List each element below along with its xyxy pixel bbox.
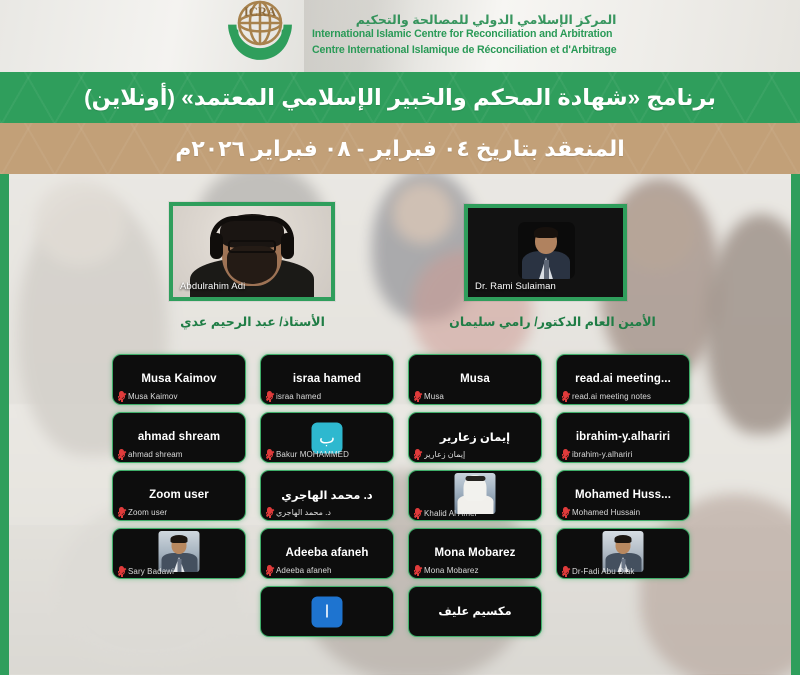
org-name-arabic: المركز الإسلامي الدولي للمصالحة والتحكيم	[312, 12, 616, 27]
participant-display-name: read.ai meeting...	[557, 373, 689, 385]
grid-spacer	[112, 586, 246, 637]
mic-muted-icon	[414, 508, 421, 519]
participant-footer-name: ibrahim-y.alhariri	[572, 450, 632, 459]
participant-footer-name: Dr-Fadi Abu Diak	[572, 567, 635, 576]
zoom-meeting-poster: ICRA المركز الإسلامي الدولي للمصالحة وال…	[0, 0, 800, 675]
org-name-french: Centre International Islamique de Réconc…	[312, 43, 616, 58]
participant-name-bar: israa hamed	[266, 391, 321, 402]
participant-display-name: ahmad shream	[113, 431, 245, 443]
participant-tile[interactable]: ibrahim-y.alhaririibrahim-y.alhariri	[556, 412, 690, 463]
program-dates: المنعقد بتاريخ ٠٤ فبراير - ٠٨ فبراير ٢٠٢…	[175, 136, 625, 162]
participant-tile[interactable]: Zoom userZoom user	[112, 470, 246, 521]
participant-display-name: د. محمد الهاجري	[261, 487, 393, 501]
participant-display-name: إيمان زعارير	[409, 429, 541, 443]
participant-footer-name: Mohamed Hussain	[572, 508, 640, 517]
participant-name-bar: Mona Mobarez	[414, 565, 479, 576]
program-title: برنامج «شهادة المحكم والخبير الإسلامي ال…	[84, 85, 716, 111]
participant-footer-name: Mona Mobarez	[424, 566, 479, 575]
logo-band: ICRA المركز الإسلامي الدولي للمصالحة وال…	[0, 0, 800, 72]
mic-muted-icon	[118, 566, 125, 577]
mic-muted-icon	[414, 565, 421, 576]
participant-name-bar: Zoom user	[118, 507, 167, 518]
frame-edge-right	[791, 174, 800, 675]
participant-tile[interactable]: بBakur MOHAMMED	[260, 412, 394, 463]
participant-name-bar: إيمان زعارير	[414, 449, 465, 460]
mic-muted-icon	[562, 391, 569, 402]
organization-name-block: المركز الإسلامي الدولي للمصالحة والتحكيم…	[312, 0, 616, 58]
icra-globe-logo-icon: ICRA	[218, 0, 302, 70]
participant-tile[interactable]: مكسيم عليف	[408, 586, 542, 637]
participant-footer-name: Musa Kaimov	[128, 392, 178, 401]
participant-tile[interactable]: د. محمد الهاجريد. محمد الهاجري	[260, 470, 394, 521]
participant-avatar-initial: ا	[312, 596, 343, 627]
mic-muted-icon	[266, 565, 273, 576]
participant-display-name: Mohamed Huss...	[557, 489, 689, 501]
participant-name-bar: Sary Badawi	[118, 566, 174, 577]
participant-display-name: israa hamed	[261, 373, 393, 385]
participant-display-name: ibrahim-y.alhariri	[557, 431, 689, 443]
participant-footer-name: Musa	[424, 392, 444, 401]
participant-name-bar: د. محمد الهاجري	[266, 507, 331, 518]
participant-tile[interactable]: Sary Badawi	[112, 528, 246, 579]
participant-name-bar: read.ai meeting notes	[562, 391, 651, 402]
participant-footer-name: read.ai meeting notes	[572, 392, 651, 401]
speaker-caption-arabic-main: الأستاذ/ عبد الرحيم عدي	[130, 314, 375, 329]
participant-tile[interactable]: Dr-Fadi Abu Diak	[556, 528, 690, 579]
frame-edge-left	[0, 174, 9, 675]
mic-muted-icon	[414, 449, 421, 460]
participant-tile[interactable]: Khalid Al Amer	[408, 470, 542, 521]
participant-name-bar: Adeeba afaneh	[266, 565, 332, 576]
participant-footer-name: Zoom user	[128, 508, 167, 517]
participant-tile[interactable]: ا	[260, 586, 394, 637]
participant-display-name: Adeeba afaneh	[261, 547, 393, 559]
organization-logo-lockup: ICRA المركز الإسلامي الدولي للمصالحة وال…	[218, 0, 616, 70]
mic-muted-icon	[118, 449, 125, 460]
participant-footer-name: Adeeba afaneh	[276, 566, 332, 575]
participant-tile[interactable]: Adeeba afanehAdeeba afaneh	[260, 528, 394, 579]
participant-footer-name: د. محمد الهاجري	[276, 508, 331, 517]
participant-tile[interactable]: إيمان زعاريرإيمان زعارير	[408, 412, 542, 463]
participant-footer-name: إيمان زعارير	[424, 450, 465, 459]
participant-display-name: مكسيم عليف	[409, 603, 541, 617]
participant-tile[interactable]: ahmad shreamahmad shream	[112, 412, 246, 463]
participant-name-bar: Mohamed Hussain	[562, 507, 640, 518]
mic-muted-icon	[266, 449, 273, 460]
participant-name-bar: ahmad shream	[118, 449, 183, 460]
participant-footer-name: israa hamed	[276, 392, 321, 401]
speaker-tile-dr-rami-sulaiman[interactable]: Dr. Rami Sulaiman	[464, 204, 627, 301]
participant-name-bar: ibrahim-y.alhariri	[562, 449, 632, 460]
speaker-caption-arabic-secondary: الأمين العام الدكتور/ رامي سليمان	[430, 314, 675, 329]
participant-display-name: Musa	[409, 373, 541, 385]
grid-spacer	[556, 586, 690, 637]
participant-tile[interactable]: israa hamedisraa hamed	[260, 354, 394, 405]
participant-tile[interactable]: Musa KaimovMusa Kaimov	[112, 354, 246, 405]
speaker-name-overlay: Dr. Rami Sulaiman	[475, 281, 556, 292]
speaker-tile-abdulrahim-adi[interactable]: Abdulrahim Adi	[169, 202, 335, 301]
participant-grid: Musa KaimovMusa Kaimovisraa hamedisraa h…	[112, 354, 690, 637]
mic-muted-icon	[414, 391, 421, 402]
participant-name-bar: Khalid Al Amer	[414, 508, 477, 519]
meeting-stage: Abdulrahim Adi Dr. Rami Sulaiman الأستاذ…	[0, 174, 800, 675]
mic-muted-icon	[118, 507, 125, 518]
participant-name-bar: Musa Kaimov	[118, 391, 178, 402]
participant-footer-name: Sary Badawi	[128, 567, 174, 576]
program-title-banner: برنامج «شهادة المحكم والخبير الإسلامي ال…	[0, 72, 800, 123]
mic-muted-icon	[266, 507, 273, 518]
mic-muted-icon	[266, 391, 273, 402]
svg-text:ICRA: ICRA	[244, 5, 276, 19]
participant-name-bar: Musa	[414, 391, 444, 402]
program-date-banner: المنعقد بتاريخ ٠٤ فبراير - ٠٨ فبراير ٢٠٢…	[0, 123, 800, 174]
participant-display-name: Musa Kaimov	[113, 373, 245, 385]
participant-name-bar: Dr-Fadi Abu Diak	[562, 566, 635, 577]
participant-display-name: Mona Mobarez	[409, 547, 541, 559]
participant-tile[interactable]: MusaMusa	[408, 354, 542, 405]
mic-muted-icon	[118, 391, 125, 402]
participant-footer-name: Bakur MOHAMMED	[276, 450, 349, 459]
mic-muted-icon	[562, 449, 569, 460]
speaker-name-overlay: Abdulrahim Adi	[180, 281, 245, 292]
participant-tile[interactable]: Mohamed Huss...Mohamed Hussain	[556, 470, 690, 521]
mic-muted-icon	[562, 507, 569, 518]
org-name-english: International Islamic Centre for Reconci…	[312, 27, 616, 42]
participant-name-bar: Bakur MOHAMMED	[266, 449, 349, 460]
participant-footer-name: ahmad shream	[128, 450, 183, 459]
participant-tile[interactable]: Mona MobarezMona Mobarez	[408, 528, 542, 579]
mic-muted-icon	[562, 566, 569, 577]
participant-footer-name: Khalid Al Amer	[424, 509, 477, 518]
participant-tile[interactable]: read.ai meeting...read.ai meeting notes	[556, 354, 690, 405]
participant-display-name: Zoom user	[113, 489, 245, 501]
